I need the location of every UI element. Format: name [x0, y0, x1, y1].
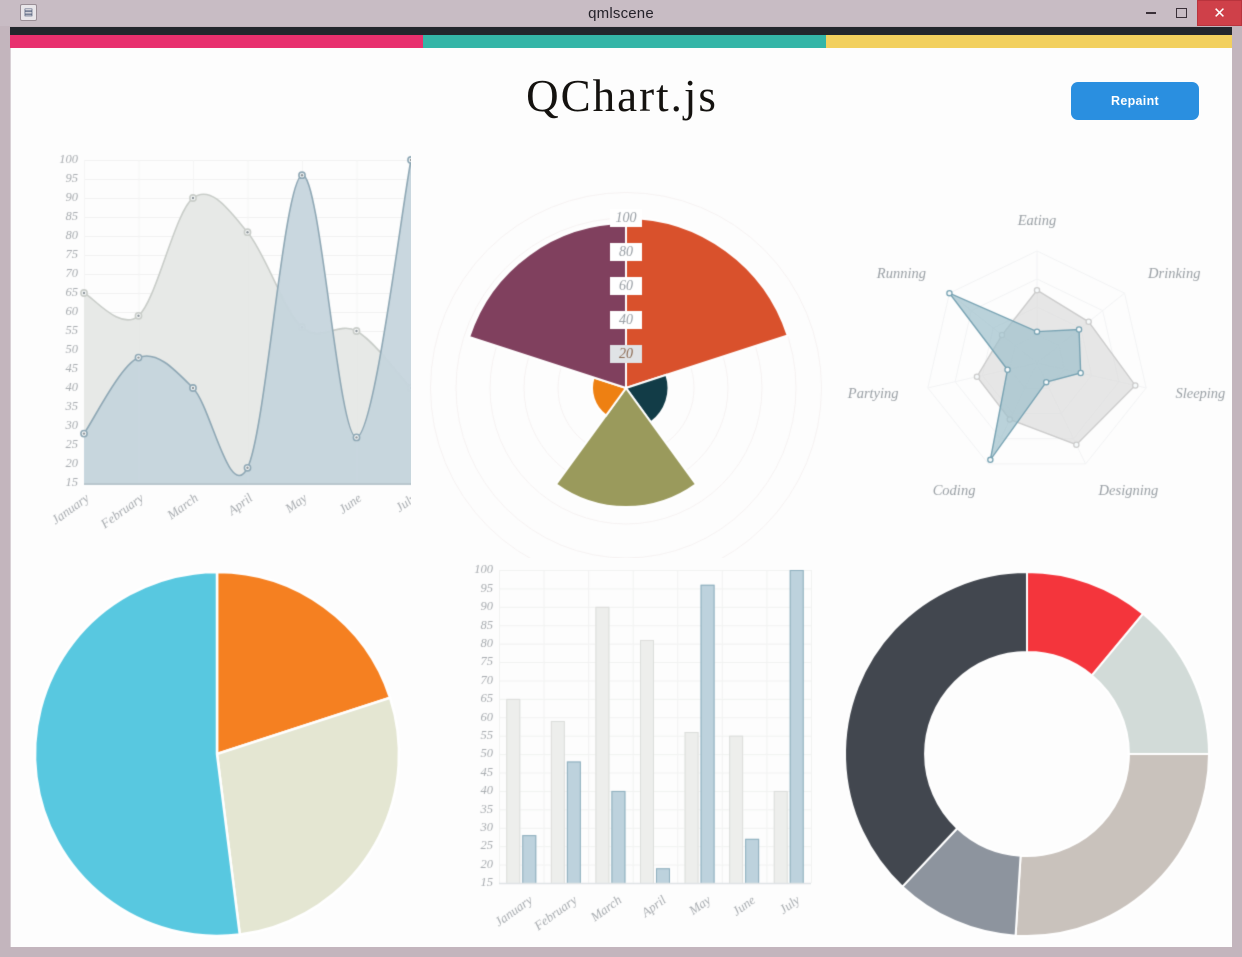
window-title: qmlscene [0, 5, 1242, 22]
radar-chart-canvas [841, 198, 1232, 538]
polar-area-chart[interactable] [421, 143, 831, 558]
stripe-yellow [826, 35, 1232, 48]
close-button[interactable]: ✕ [1197, 0, 1242, 26]
application-icon: ▤ [20, 4, 37, 21]
radar-chart[interactable] [841, 198, 1232, 538]
polar-area-chart-canvas [421, 143, 831, 558]
dark-accent-bar [10, 27, 1232, 35]
page-title: QChart.js [11, 70, 1232, 122]
pie-chart[interactable] [21, 558, 421, 947]
application-window: ▤ qmlscene ✕ QChart.js Repaint [0, 0, 1242, 957]
maximize-icon [1176, 8, 1187, 18]
title-bar: ▤ qmlscene ✕ [0, 0, 1242, 26]
chart-canvas-area: QChart.js Repaint [10, 48, 1232, 947]
minimize-button[interactable] [1135, 0, 1166, 26]
pie-chart-canvas [21, 558, 421, 947]
maximize-button[interactable] [1166, 0, 1197, 26]
color-stripe-bar [10, 35, 1232, 48]
minimize-icon [1146, 12, 1156, 14]
stripe-teal [423, 35, 826, 48]
line-area-chart[interactable] [36, 148, 411, 558]
doughnut-chart[interactable] [831, 558, 1231, 947]
line-area-chart-canvas [36, 148, 411, 558]
doughnut-chart-canvas [831, 558, 1231, 947]
stripe-pink [10, 35, 423, 48]
bar-chart-canvas [451, 558, 821, 947]
repaint-button[interactable]: Repaint [1071, 82, 1199, 120]
bar-chart[interactable] [451, 558, 821, 947]
window-controls: ✕ [1135, 0, 1242, 26]
